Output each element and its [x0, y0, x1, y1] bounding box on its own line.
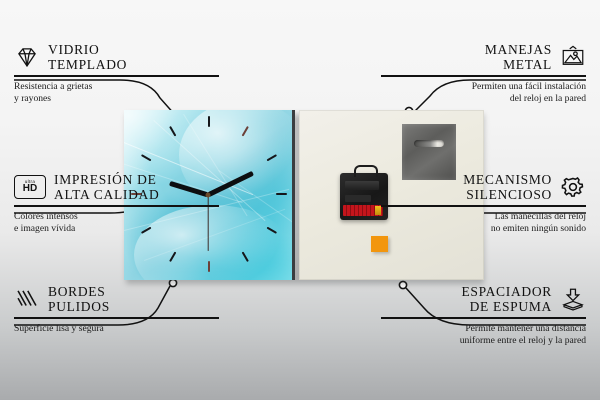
hanger-slot — [414, 140, 444, 147]
infographic-canvas: VIDRIO TEMPLADO Resistencia a grietas y … — [0, 0, 600, 400]
feature-title-line2: SILENCIOSO — [466, 187, 552, 202]
feature-desc-line2: uniforme entre el reloj y la pared — [460, 335, 586, 346]
feature-desc-line2: no emiten ningún sonido — [491, 223, 586, 234]
feature-divider — [14, 317, 219, 318]
feature-espaciador-espuma: ESPACIADOR DE ESPUMA Permite mantener un… — [381, 284, 586, 348]
feature-desc-line2: e imagen vívida — [14, 223, 75, 234]
feature-desc-line1: Resistencia a grietas — [14, 81, 92, 92]
feature-bordes-pulidos: BORDES PULIDOS Superficie lisa y segura — [14, 284, 219, 335]
feature-divider — [381, 75, 586, 76]
ultra-hd-badge-icon: ultra HD — [14, 175, 46, 199]
feature-title-line1: VIDRIO — [48, 42, 99, 57]
feature-vidrio-templado: VIDRIO TEMPLADO Resistencia a grietas y … — [14, 42, 219, 106]
feature-title-line2: PULIDOS — [48, 299, 110, 314]
foam-spacer-icon — [560, 287, 586, 311]
feature-title-line2: METAL — [503, 57, 552, 72]
feature-title-line1: BORDES — [48, 284, 105, 299]
foam-spacer-square — [371, 236, 388, 252]
feature-manejas-metal: MANEJAS METAL Permiten una fácil instala… — [381, 42, 586, 106]
feature-divider — [14, 75, 219, 76]
feature-impresion-alta-calidad: ultra HD IMPRESIÓN DE ALTA CALIDAD Color… — [14, 172, 219, 236]
feature-desc-line1: Superficie lisa y segura — [14, 323, 104, 334]
feature-title-line1: IMPRESIÓN DE — [54, 172, 157, 187]
feature-divider — [381, 205, 586, 206]
feature-desc-line1: Permite mantener una distancia — [465, 323, 586, 334]
movement-detail — [345, 181, 379, 190]
feature-desc-line1: Colores intensos — [14, 211, 78, 222]
feature-divider — [14, 205, 219, 206]
polished-edges-icon — [14, 287, 40, 311]
hanging-loop — [354, 165, 378, 177]
feature-title-line2: ALTA CALIDAD — [54, 187, 159, 202]
feature-desc-line2: y rayones — [14, 93, 51, 104]
feature-desc-line1: Las manecillas del reloj — [495, 211, 586, 222]
gear-icon — [560, 175, 586, 199]
feature-title-line1: MANEJAS — [485, 42, 552, 57]
diamond-icon — [14, 45, 40, 69]
battery — [343, 205, 383, 216]
feature-desc-line2: del reloj en la pared — [510, 93, 586, 104]
feature-title-line1: ESPACIADOR — [461, 284, 552, 299]
picture-frame-icon — [560, 45, 586, 69]
feature-title-line2: TEMPLADO — [48, 57, 127, 72]
feature-title-line2: DE ESPUMA — [470, 299, 552, 314]
feature-title-line1: MECANISMO — [463, 172, 552, 187]
feature-mecanismo-silencioso: MECANISMO SILENCIOSO Las manecillas del … — [381, 172, 586, 236]
feature-desc-line1: Permiten una fácil instalación — [472, 81, 586, 92]
movement-detail-2 — [345, 195, 371, 202]
feature-divider — [381, 317, 586, 318]
badge-hd-label: HD — [23, 184, 37, 194]
